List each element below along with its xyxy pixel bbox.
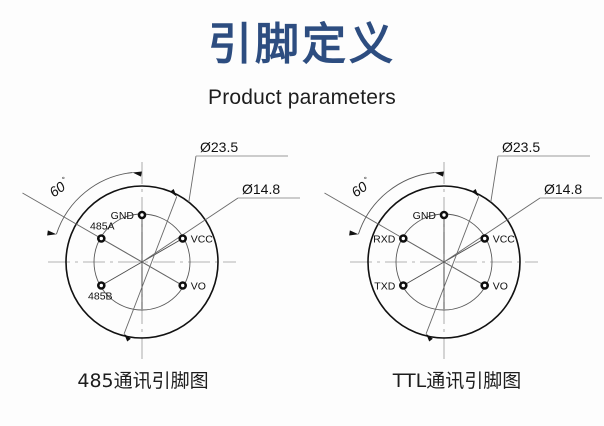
diagram-captions-row: 485通讯引脚图 TTL通讯引脚图: [0, 366, 604, 406]
pin-label-vcc: VCC: [493, 234, 516, 246]
leader-outer-diameter: [491, 156, 498, 202]
pin-label-485b: 485B: [88, 291, 113, 303]
pin-label-vo: VO: [191, 281, 206, 293]
pin-label-vcc: VCC: [191, 234, 214, 246]
pin-vcc: VCC: [178, 234, 213, 246]
pinout-definition-page: 引脚定义 Product parameters 60°Ø23.5Ø14.8GND…: [0, 0, 604, 426]
label-outer-diameter: Ø23.5: [502, 139, 540, 155]
diameter-sweep-arrow-1: [472, 189, 481, 198]
pin-label-rxd: RXD: [373, 234, 396, 246]
page-subtitle-english: Product parameters: [0, 86, 604, 110]
pinout-diagram-rs485: 60°Ø23.5Ø14.8GND485A485BVCCVO: [0, 128, 302, 383]
leader-bolt-circle-diameter: [444, 198, 540, 262]
angle-label-group: 60°: [348, 175, 374, 200]
spoke-vcc: [444, 239, 485, 263]
ttl-pinout-drawing: 60°Ø23.5Ø14.8GNDRXDTXDVCCVO: [302, 128, 604, 383]
pin-txd: TXD: [374, 281, 407, 293]
angle-arrow-2: [349, 230, 359, 236]
pinout-diagram-ttl: 60°Ø23.5Ø14.8GNDRXDTXDVCCVO: [302, 128, 604, 383]
pin-vo: VO: [480, 281, 507, 293]
angle-arrow-1: [132, 170, 142, 177]
pin-vcc: VCC: [480, 234, 515, 246]
spoke-txd: [403, 262, 444, 286]
pin-rxd: RXD: [373, 234, 407, 246]
pin-label-txd: TXD: [374, 281, 395, 293]
angle-arrow-2: [47, 230, 57, 236]
pin-485b: 485B: [88, 281, 113, 302]
rs485-pinout-drawing: 60°Ø23.5Ø14.8GND485A485BVCCVO: [0, 128, 302, 383]
label-outer-diameter: Ø23.5: [200, 139, 238, 155]
label-bolt-circle-diameter: Ø14.8: [242, 181, 280, 197]
spoke-485b: [101, 262, 142, 286]
caption-ttl: TTL通讯引脚图: [306, 366, 604, 393]
pin-vo: VO: [178, 281, 205, 293]
spoke-vcc: [142, 239, 183, 263]
leader-outer-diameter: [189, 156, 196, 202]
leader-bolt-circle-diameter: [142, 198, 238, 262]
page-title-chinese: 引脚定义: [0, 22, 604, 68]
pinout-diagrams-row: 60°Ø23.5Ø14.8GND485A485BVCCVO 60°Ø23.5Ø1…: [0, 128, 604, 383]
caption-rs485: 485通讯引脚图: [0, 366, 294, 393]
pin-485a: 485A: [90, 221, 115, 243]
label-bolt-circle-diameter: Ø14.8: [544, 181, 582, 197]
diameter-sweep-arrow-1: [170, 189, 179, 198]
pin-label-485a: 485A: [90, 221, 115, 233]
pin-label-vo: VO: [493, 281, 508, 293]
pin-gnd: GND: [111, 210, 147, 222]
pin-gnd: GND: [413, 210, 449, 222]
angle-arrow-1: [434, 170, 444, 177]
pin-label-gnd: GND: [413, 210, 437, 222]
angle-label-group: 60°: [46, 175, 72, 200]
